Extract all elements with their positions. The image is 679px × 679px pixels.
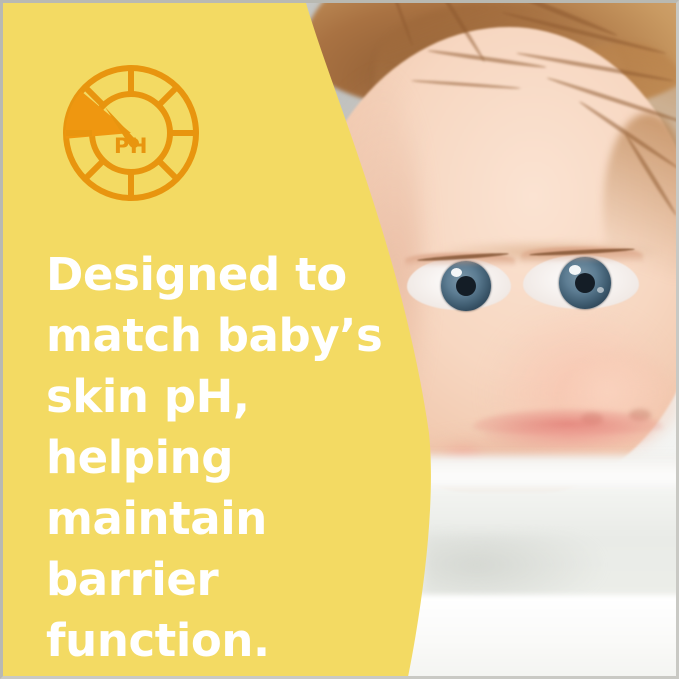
gauge-tick — [85, 161, 103, 179]
eye-glint — [451, 268, 462, 277]
eye-glint — [597, 287, 604, 293]
eye-pupil — [575, 273, 595, 293]
eye-pupil — [456, 276, 476, 296]
panel-content: PH Designed to match baby’s skin pH, hel… — [3, 3, 443, 679]
eye-glint — [569, 265, 581, 275]
gauge-tick — [159, 87, 177, 105]
ph-gauge-label: PH — [62, 136, 200, 157]
baby-eye-right — [523, 251, 643, 313]
gauge-tick — [159, 161, 177, 179]
headline-text: Designed to match baby’s skin pH, helpin… — [46, 244, 426, 671]
product-feature-image: PH Designed to match baby’s skin pH, hel… — [0, 0, 679, 679]
ph-gauge-icon: PH — [62, 64, 200, 202]
